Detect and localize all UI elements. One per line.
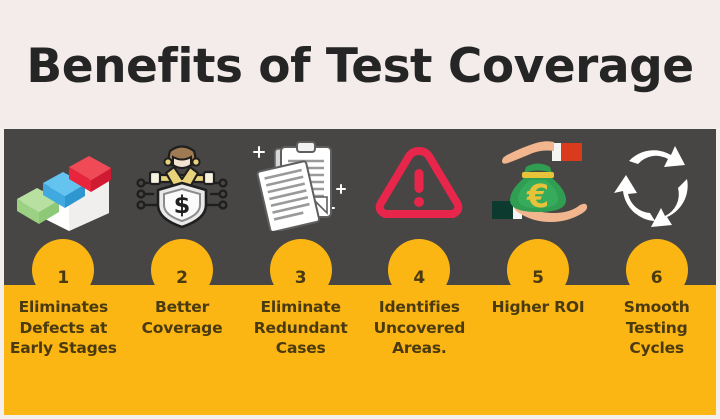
badge-number-1: 1 <box>57 270 69 287</box>
benefit-label-2: Better Coverage <box>125 297 240 338</box>
benefits-row: 1 Eliminates Defects at Early Stages <box>4 129 716 415</box>
cycle-arrows-icon <box>597 133 716 237</box>
badge-number-4: 4 <box>413 270 425 287</box>
svg-text:$: $ <box>174 191 191 219</box>
header-band: Benefits of Test Coverage <box>0 0 720 128</box>
badge-6: 6 <box>626 239 688 301</box>
badge-2: 2 <box>151 239 213 301</box>
benefit-label-1: Eliminates Defects at Early Stages <box>6 297 121 359</box>
person-shield-dollar-icon: $ <box>123 133 242 237</box>
warning-triangle-icon <box>360 133 479 237</box>
badge-number-2: 2 <box>176 270 188 287</box>
clipboard-documents-icon <box>241 133 360 237</box>
badge-5: 5 <box>507 239 569 301</box>
benefit-item-6[interactable]: 6 Smooth Testing Cycles <box>597 129 716 415</box>
page-edge-bottom <box>0 415 720 419</box>
badge-number-6: 6 <box>651 270 663 287</box>
page-title: Benefits of Test Coverage <box>26 43 693 90</box>
badge-number-5: 5 <box>532 270 544 287</box>
benefit-item-5[interactable]: € 5 Higher ROI <box>479 129 598 415</box>
benefit-item-1[interactable]: 1 Eliminates Defects at Early Stages <box>4 129 123 415</box>
stacked-bar-steps-icon <box>4 133 123 237</box>
benefit-label-3: Eliminate Redundant Cases <box>243 297 358 359</box>
badge-4: 4 <box>388 239 450 301</box>
benefit-label-4: Identifies Uncovered Areas. <box>362 297 477 359</box>
badge-number-3: 3 <box>295 270 307 287</box>
svg-text:€: € <box>526 177 549 215</box>
page-edge-left <box>0 129 4 419</box>
benefit-label-6: Smooth Testing Cycles <box>599 297 714 359</box>
page-edge-right <box>716 129 720 419</box>
infographic-root: Benefits of Test Coverage <box>0 0 720 419</box>
benefit-item-2[interactable]: $ 2 Better Coverage <box>123 129 242 415</box>
badge-3: 3 <box>270 239 332 301</box>
benefit-item-3[interactable]: 3 Eliminate Redundant Cases <box>241 129 360 415</box>
hands-money-bag-euro-icon: € <box>479 133 598 237</box>
benefit-item-4[interactable]: 4 Identifies Uncovered Areas. <box>360 129 479 415</box>
badge-1: 1 <box>32 239 94 301</box>
